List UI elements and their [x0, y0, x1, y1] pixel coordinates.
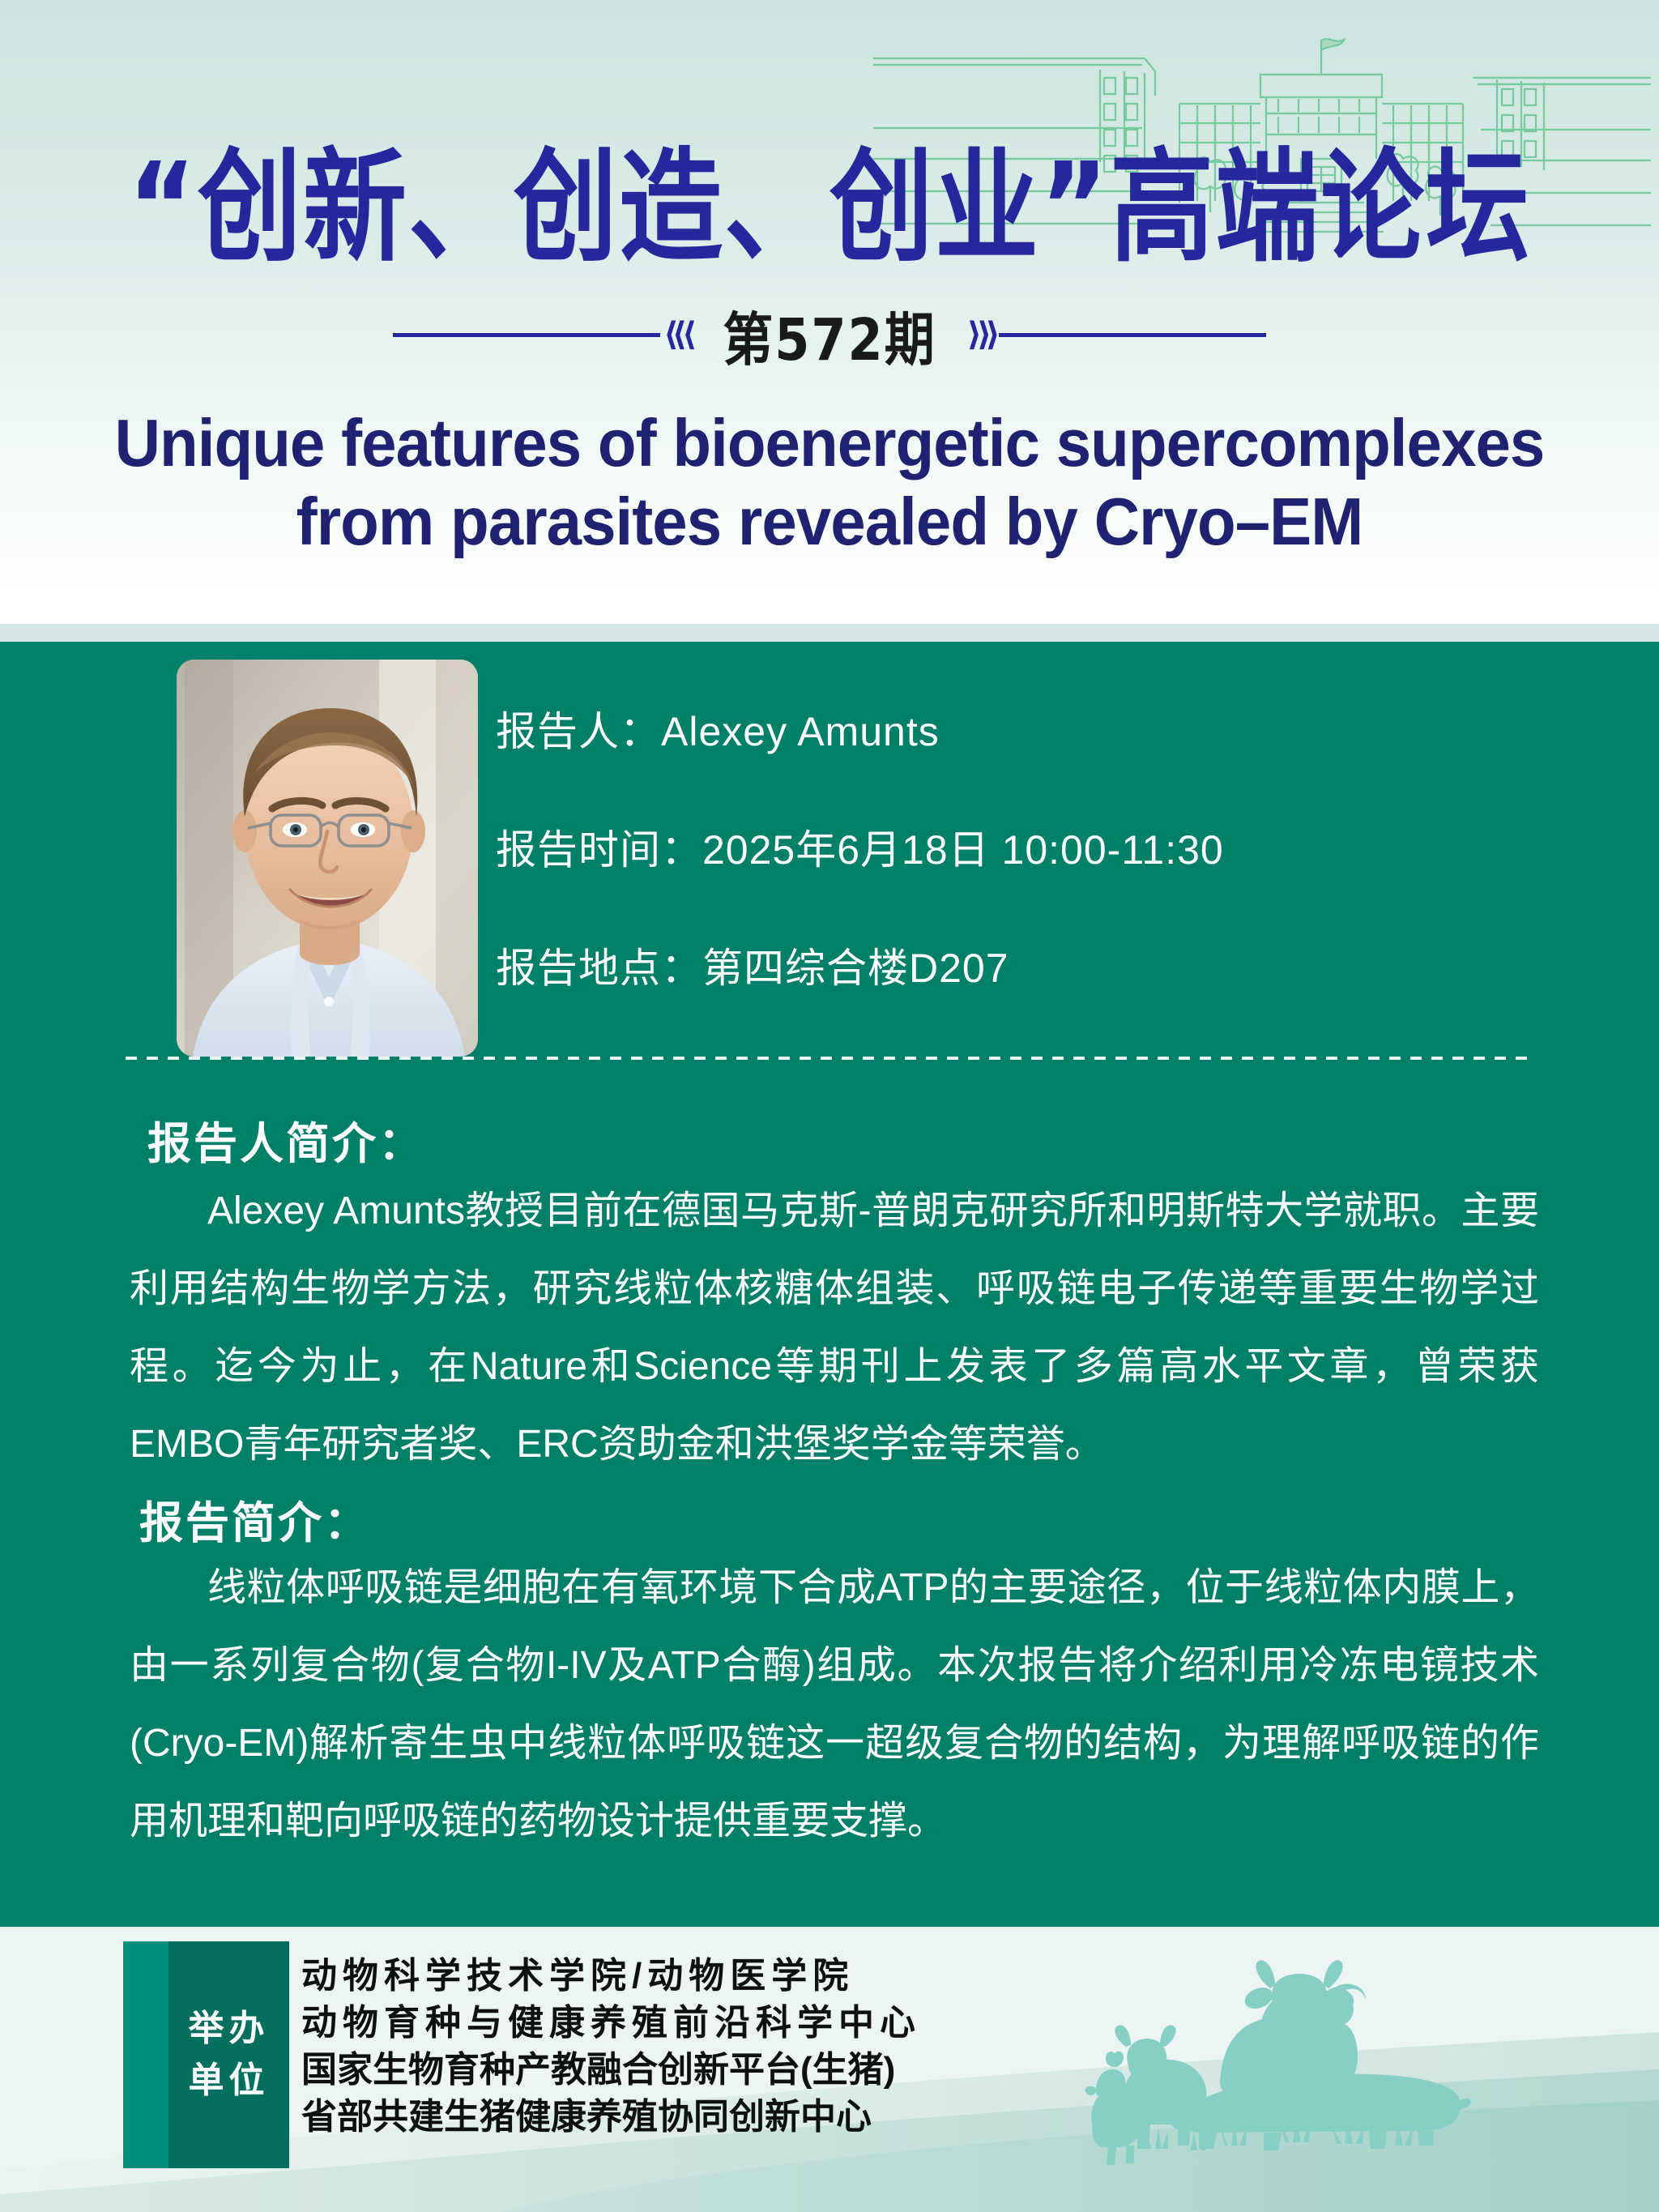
- speaker-photo: [177, 660, 478, 1057]
- organizer-item-2: 动物育种与健康养殖前沿科学中心: [301, 2000, 921, 2047]
- organizer-item-1: 动物科学技术学院/动物医学院: [301, 1953, 921, 2000]
- organizer-badge-line2: 单位: [189, 2055, 270, 2107]
- organizer-item-4: 省部共建生猪健康养殖协同创新中心: [301, 2094, 921, 2141]
- organizer-list: 动物科学技术学院/动物医学院 动物育种与健康养殖前沿科学中心 国家生物育种产教融…: [301, 1953, 921, 2141]
- bio-text: Alexey Amunts教授目前在德国马克斯-普朗克研究所和明斯特大学就职。主…: [130, 1172, 1539, 1484]
- dashed-divider: [126, 1057, 1535, 1060]
- organizer-badge-line1: 举办: [189, 2003, 270, 2055]
- issue-rule-left: [393, 333, 660, 337]
- organizer-badge-body: 举办 单位: [168, 1941, 289, 2168]
- chevron-right-icon: ⟩⟫: [964, 318, 999, 351]
- speaker-venue-row: 报告地点：第四综合楼D207: [496, 948, 1468, 989]
- talk-title-en: Unique features of bioenergetic supercom…: [49, 404, 1609, 561]
- speaker-name-row: 报告人：Alexey Amunts: [496, 711, 1468, 752]
- forum-title-cn: “创新、创造、创业”高端论坛: [0, 138, 1659, 279]
- farm-animals-silhouette-icon: [1077, 1928, 1644, 2196]
- poster-header: “创新、创造、创业”高端论坛 ⟪⟨ 第572期 ⟩⟫ Unique featur…: [0, 0, 1659, 624]
- issue-rule-right: [999, 333, 1266, 337]
- organizer-badge-left-strip: [123, 1941, 168, 2168]
- issue-number: 第572期: [723, 293, 936, 377]
- issue-row: ⟪⟨ 第572期 ⟩⟫: [0, 298, 1659, 371]
- poster-body: 报告人：Alexey Amunts 报告时间：2025年6月18日 10:00-…: [0, 642, 1659, 1927]
- talk-title-en-line1: Unique features of bioenergetic supercom…: [49, 404, 1609, 482]
- abstract-heading: 报告简介：: [139, 1487, 370, 1551]
- chevron-left-icon: ⟪⟨: [660, 318, 695, 351]
- header-bottom-strip: [0, 624, 1659, 642]
- bio-heading: 报告人简介：: [147, 1108, 424, 1172]
- abstract-text: 线粒体呼吸链是细胞在有氧环境下合成ATP的主要途径，位于线粒体内膜上，由一系列复…: [130, 1549, 1539, 1860]
- speaker-time-row: 报告时间：2025年6月18日 10:00-11:30: [496, 830, 1468, 870]
- speaker-meta: 报告人：Alexey Amunts 报告时间：2025年6月18日 10:00-…: [496, 711, 1468, 989]
- talk-title-en-line2: from parasites revealed by Cryo–EM: [49, 482, 1609, 561]
- organizer-badge: 举办 单位: [123, 1941, 289, 2168]
- poster-footer: 举办 单位 动物科学技术学院/动物医学院 动物育种与健康养殖前沿科学中心 国家生…: [0, 1927, 1659, 2212]
- organizer-item-3: 国家生物育种产教融合创新平台(生猪): [301, 2047, 921, 2094]
